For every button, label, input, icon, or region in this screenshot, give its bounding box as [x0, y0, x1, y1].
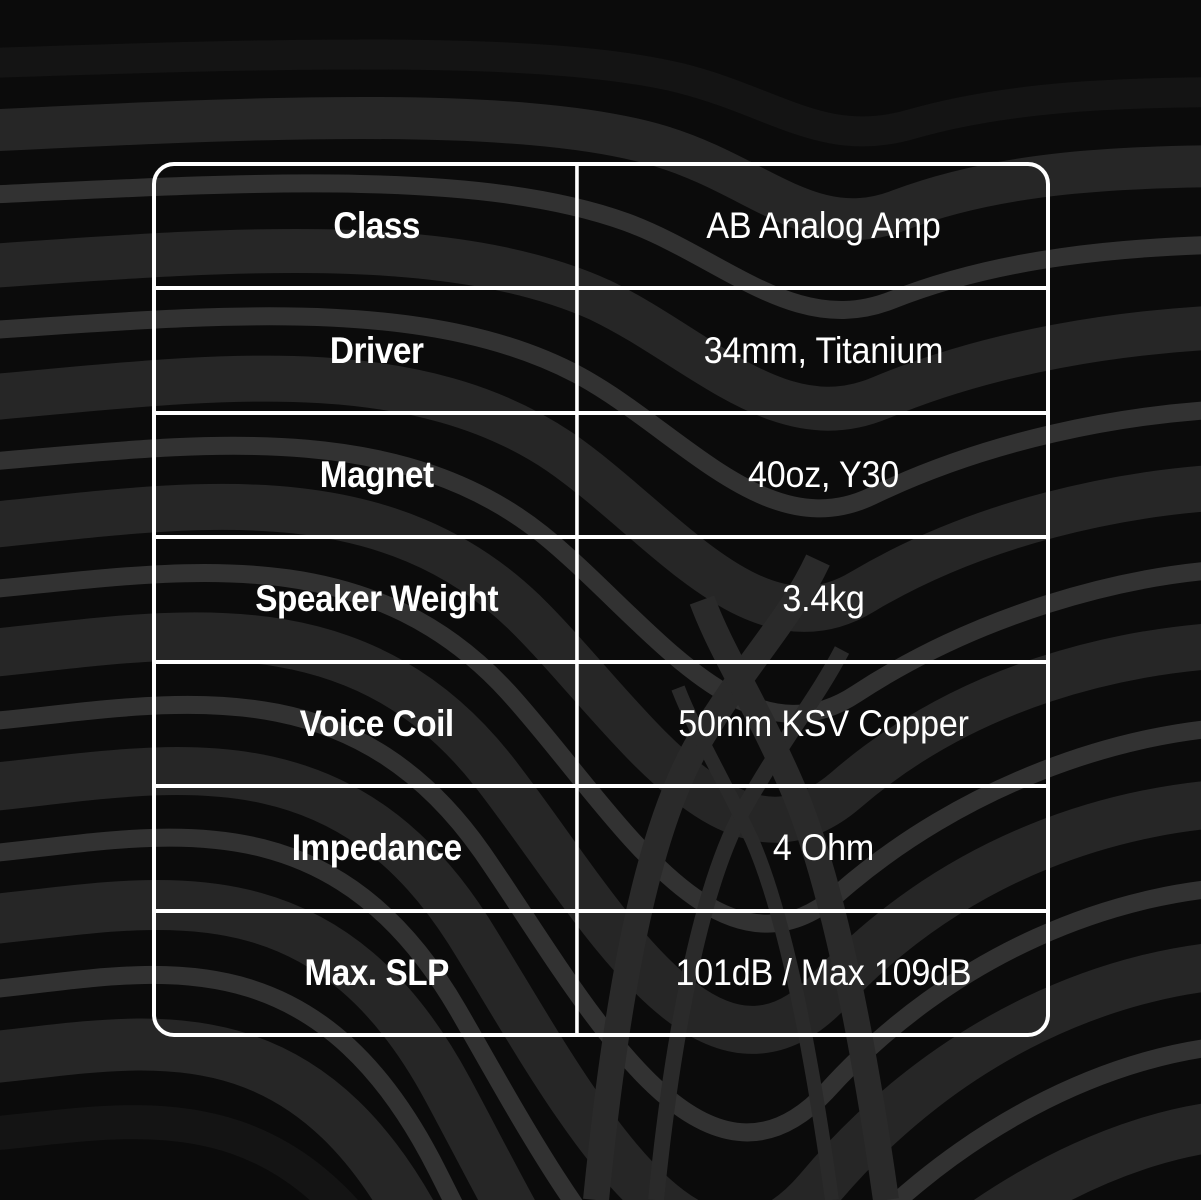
table-row: Impedance 4 Ohm	[156, 788, 1046, 912]
table-row: Class AB Analog Amp	[156, 166, 1046, 290]
spec-label-speaker-weight: Speaker Weight	[178, 539, 579, 659]
spec-label-magnet: Magnet	[178, 415, 579, 535]
spec-label-driver: Driver	[178, 290, 579, 410]
spec-label-impedance: Impedance	[178, 788, 579, 908]
table-row: Max. SLP 101dB / Max 109dB	[156, 913, 1046, 1033]
spec-label-voice-coil: Voice Coil	[178, 664, 579, 784]
spec-value-class: AB Analog Amp	[619, 166, 1028, 286]
table-row: Voice Coil 50mm KSV Copper	[156, 664, 1046, 788]
spec-table: Class AB Analog Amp Driver 34mm, Titaniu…	[152, 162, 1050, 1037]
spec-value-speaker-weight: 3.4kg	[619, 539, 1028, 659]
table-row: Driver 34mm, Titanium	[156, 290, 1046, 414]
spec-label-class: Class	[178, 166, 579, 286]
spec-value-max-slp: 101dB / Max 109dB	[619, 913, 1028, 1033]
spec-value-magnet: 40oz, Y30	[619, 415, 1028, 535]
spec-label-max-slp: Max. SLP	[178, 913, 579, 1033]
spec-value-voice-coil: 50mm KSV Copper	[619, 664, 1028, 784]
spec-sheet-canvas: Class AB Analog Amp Driver 34mm, Titaniu…	[0, 0, 1201, 1200]
table-row: Speaker Weight 3.4kg	[156, 539, 1046, 663]
spec-value-driver: 34mm, Titanium	[619, 290, 1028, 410]
spec-value-impedance: 4 Ohm	[619, 788, 1028, 908]
table-row: Magnet 40oz, Y30	[156, 415, 1046, 539]
